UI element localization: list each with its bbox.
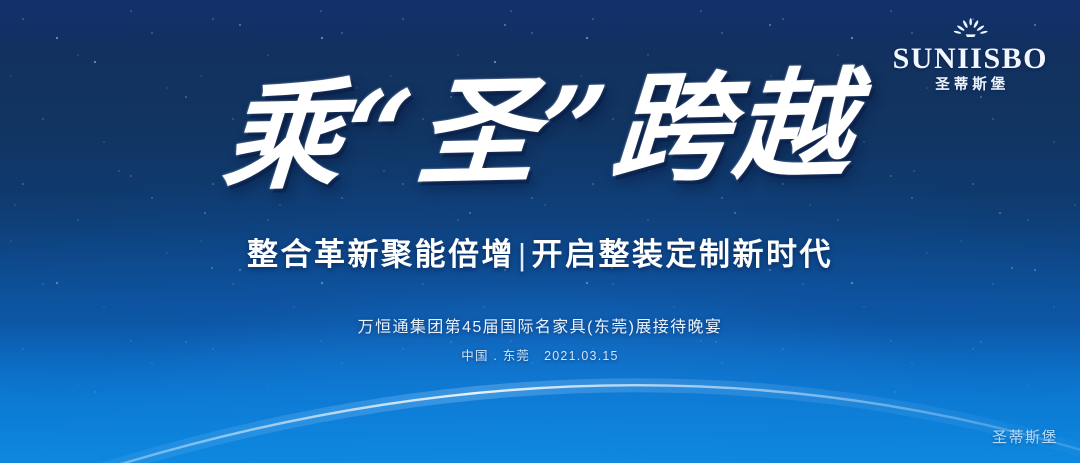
event-date: 2021.03.15 bbox=[544, 349, 619, 363]
subtitle-right: 开启整装定制新时代 bbox=[532, 237, 834, 272]
brand-watermark: 圣蒂斯堡 bbox=[992, 426, 1058, 447]
event-banner: SUNIISBO 圣蒂斯堡 乘“圣”跨越 整合革新聚能倍增|开启整装定制新时代 … bbox=[0, 0, 1080, 463]
headline: 乘“圣”跨越 bbox=[0, 72, 1080, 190]
event-place-date: 中国 . 东莞2021.03.15 bbox=[0, 345, 1080, 364]
event-place: 中国 . 东莞 bbox=[461, 349, 530, 363]
event-name: 万恒通集团第45届国际名家具(东莞)展接待晚宴 bbox=[0, 313, 1080, 337]
lotus-sunburst-icon bbox=[944, 18, 997, 38]
subtitle: 整合革新聚能倍增|开启整装定制新时代 bbox=[0, 229, 1080, 274]
brand-wordmark: SUNIISBO bbox=[893, 43, 1048, 75]
horizon-arc bbox=[0, 283, 1080, 463]
subtitle-left: 整合革新聚能倍增 bbox=[247, 237, 515, 272]
headline-text: 乘“圣”跨越 bbox=[220, 65, 861, 196]
subtitle-separator: | bbox=[515, 237, 532, 272]
